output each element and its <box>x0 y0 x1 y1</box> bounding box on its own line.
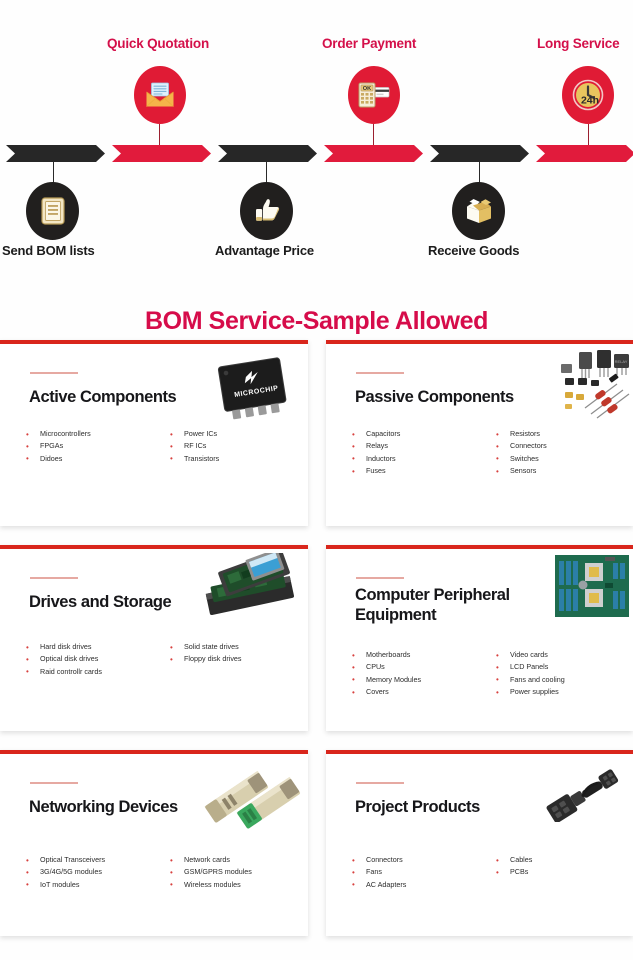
bullet-column-1: Hard disk drives Optical disk drives Rai… <box>18 641 162 678</box>
list-item: Transistors <box>162 453 306 465</box>
clock-24h-icon: 24h <box>569 76 607 114</box>
timeline-arrow-5 <box>430 145 529 162</box>
list-item: Floppy disk drives <box>162 653 306 665</box>
timeline-arrow-4 <box>324 145 423 162</box>
card-project-products[interactable]: Project Products <box>326 750 633 936</box>
envelope-mail-icon-badge <box>134 66 186 124</box>
card-title: Passive Components <box>355 387 514 407</box>
passive-components-photo: RELAY <box>521 348 631 420</box>
card-title: Project Products <box>355 797 480 817</box>
timeline-stem-bottom-1 <box>53 162 54 184</box>
open-box-icon <box>463 196 495 226</box>
hard-disk-drives-photo <box>192 553 304 623</box>
list-item: Network cards <box>162 854 306 866</box>
list-item: Connectors <box>344 854 488 866</box>
card-computer-peripheral-equipment[interactable]: Computer Peripheral Equipment <box>326 545 633 731</box>
list-item: CPUs <box>344 661 488 673</box>
bullet-column-2: Cables PCBs <box>488 854 632 891</box>
accent-line <box>356 782 404 784</box>
list-item: Sensors <box>488 465 632 477</box>
bullet-column-2: Resistors Connectors Switches Sensors <box>488 428 632 478</box>
list-item: Hard disk drives <box>18 641 162 653</box>
timeline-stem-bottom-2 <box>266 162 267 184</box>
list-item: Motherboards <box>344 649 488 661</box>
bullet-column-1: Connectors Fans AC Adapters <box>344 854 488 891</box>
list-item: Fans and cooling <box>488 674 632 686</box>
list-item: Microcontrollers <box>18 428 162 440</box>
card-row-3: Networking Devices <box>0 750 633 955</box>
card-bullets: Motherboards CPUs Memory Modules Covers … <box>344 649 632 699</box>
card-title: Networking Devices <box>29 797 178 817</box>
list-item: Wireless modules <box>162 879 306 891</box>
bullet-column-2: Power ICs RF ICs Transistors <box>162 428 306 465</box>
list-item: FPGAs <box>18 440 162 452</box>
card-drives-and-storage[interactable]: Drives and Storage <box>0 545 308 731</box>
accent-line <box>30 372 78 374</box>
accent-line <box>356 577 404 579</box>
list-item: Connectors <box>488 440 632 452</box>
list-item: RF ICs <box>162 440 306 452</box>
card-networking-devices[interactable]: Networking Devices <box>0 750 308 936</box>
list-item: GSM/GPRS modules <box>162 866 306 878</box>
list-item: Inductors <box>344 453 488 465</box>
svg-text:OK: OK <box>363 86 371 92</box>
timeline-label-quick-quotation: Quick Quotation <box>107 36 209 51</box>
list-item: Switches <box>488 453 632 465</box>
page-root: Quick Quotation Order Payment Long Servi… <box>0 0 633 960</box>
list-item: Solid state drives <box>162 641 306 653</box>
calculator-card-payment-icon-badge: OK <box>348 66 400 124</box>
process-timeline: Quick Quotation Order Payment Long Servi… <box>0 0 633 275</box>
accent-line <box>30 577 78 579</box>
timeline-stem-top-3 <box>588 124 589 146</box>
list-item: Covers <box>344 686 488 698</box>
timeline-arrow-2 <box>112 145 211 162</box>
list-item: PCBs <box>488 866 632 878</box>
list-item: Raid controllr cards <box>18 666 162 678</box>
card-title: Drives and Storage <box>29 592 171 612</box>
list-item: Capacitors <box>344 428 488 440</box>
power-cable-connector-photo <box>531 762 631 822</box>
card-row-1: Active Components MICROCHIP <box>0 340 633 545</box>
timeline-label-send-bom-lists: Send BOM lists <box>2 243 95 258</box>
calculator-card-payment-icon: OK <box>357 81 391 109</box>
list-item: LCD Panels <box>488 661 632 673</box>
bullet-column-1: Capacitors Relays Inductors Fuses <box>344 428 488 478</box>
document-list-icon-badge <box>26 182 79 240</box>
list-item: Power ICs <box>162 428 306 440</box>
card-bullets: Microcontrollers FPGAs Didoes Power ICs … <box>18 428 306 465</box>
sfp-transceiver-photo <box>200 768 304 832</box>
list-item: Relays <box>344 440 488 452</box>
list-item: Optical disk drives <box>18 653 162 665</box>
timeline-arrow-1 <box>6 145 105 162</box>
open-box-icon-badge <box>452 182 505 240</box>
list-item: Fuses <box>344 465 488 477</box>
card-passive-components[interactable]: Passive Components RELAY <box>326 340 633 526</box>
card-bullets: Optical Transceivers 3G/4G/5G modules Io… <box>18 854 306 891</box>
timeline-arrow-3 <box>218 145 317 162</box>
card-bullets: Capacitors Relays Inductors Fuses Resist… <box>344 428 632 478</box>
list-item: Didoes <box>18 453 162 465</box>
envelope-mail-icon <box>145 82 175 108</box>
svg-text:RELAY: RELAY <box>615 359 628 364</box>
list-item: Cables <box>488 854 632 866</box>
list-item: Memory Modules <box>344 674 488 686</box>
bom-category-grid: Active Components MICROCHIP <box>0 340 633 955</box>
list-item: Resistors <box>488 428 632 440</box>
list-item: AC Adapters <box>344 879 488 891</box>
timeline-label-order-payment: Order Payment <box>322 36 416 51</box>
accent-line <box>356 372 404 374</box>
bullet-column-2: Solid state drives Floppy disk drives <box>162 641 306 678</box>
card-title: Active Components <box>29 387 176 407</box>
timeline-stem-bottom-3 <box>479 162 480 184</box>
timeline-label-receive-goods: Receive Goods <box>428 243 519 258</box>
card-title: Computer Peripheral Equipment <box>355 585 560 625</box>
list-item: Power supplies <box>488 686 632 698</box>
timeline-label-long-service: Long Service <box>537 36 619 51</box>
thumbs-up-icon-badge <box>240 182 293 240</box>
bullet-column-1: Motherboards CPUs Memory Modules Covers <box>344 649 488 699</box>
list-item: IoT modules <box>18 879 162 891</box>
card-row-2: Drives and Storage <box>0 545 633 750</box>
timeline-stem-top-1 <box>159 124 160 146</box>
microchip-ic-photo: MICROCHIP <box>204 354 302 426</box>
timeline-arrow-bar <box>0 145 633 163</box>
bullet-column-1: Optical Transceivers 3G/4G/5G modules Io… <box>18 854 162 891</box>
list-item: Optical Transceivers <box>18 854 162 866</box>
card-bullets: Connectors Fans AC Adapters Cables PCBs <box>344 854 632 891</box>
timeline-stem-top-2 <box>373 124 374 146</box>
svg-text:24h: 24h <box>581 95 599 107</box>
bullet-column-1: Microcontrollers FPGAs Didoes <box>18 428 162 465</box>
card-active-components[interactable]: Active Components MICROCHIP <box>0 340 308 526</box>
list-item: Fans <box>344 866 488 878</box>
document-list-icon <box>40 196 66 226</box>
bullet-column-2: Video cards LCD Panels Fans and cooling … <box>488 649 632 699</box>
timeline-label-advantage-price: Advantage Price <box>215 243 314 258</box>
accent-line <box>30 782 78 784</box>
list-item: 3G/4G/5G modules <box>18 866 162 878</box>
list-item: Video cards <box>488 649 632 661</box>
motherboard-photo <box>555 555 629 617</box>
page-title: BOM Service-Sample Allowed <box>0 307 633 336</box>
bullet-column-2: Network cards GSM/GPRS modules Wireless … <box>162 854 306 891</box>
timeline-arrow-6 <box>536 145 633 162</box>
clock-24h-icon-badge: 24h <box>562 66 614 124</box>
thumbs-up-icon <box>252 197 282 225</box>
card-bullets: Hard disk drives Optical disk drives Rai… <box>18 641 306 678</box>
